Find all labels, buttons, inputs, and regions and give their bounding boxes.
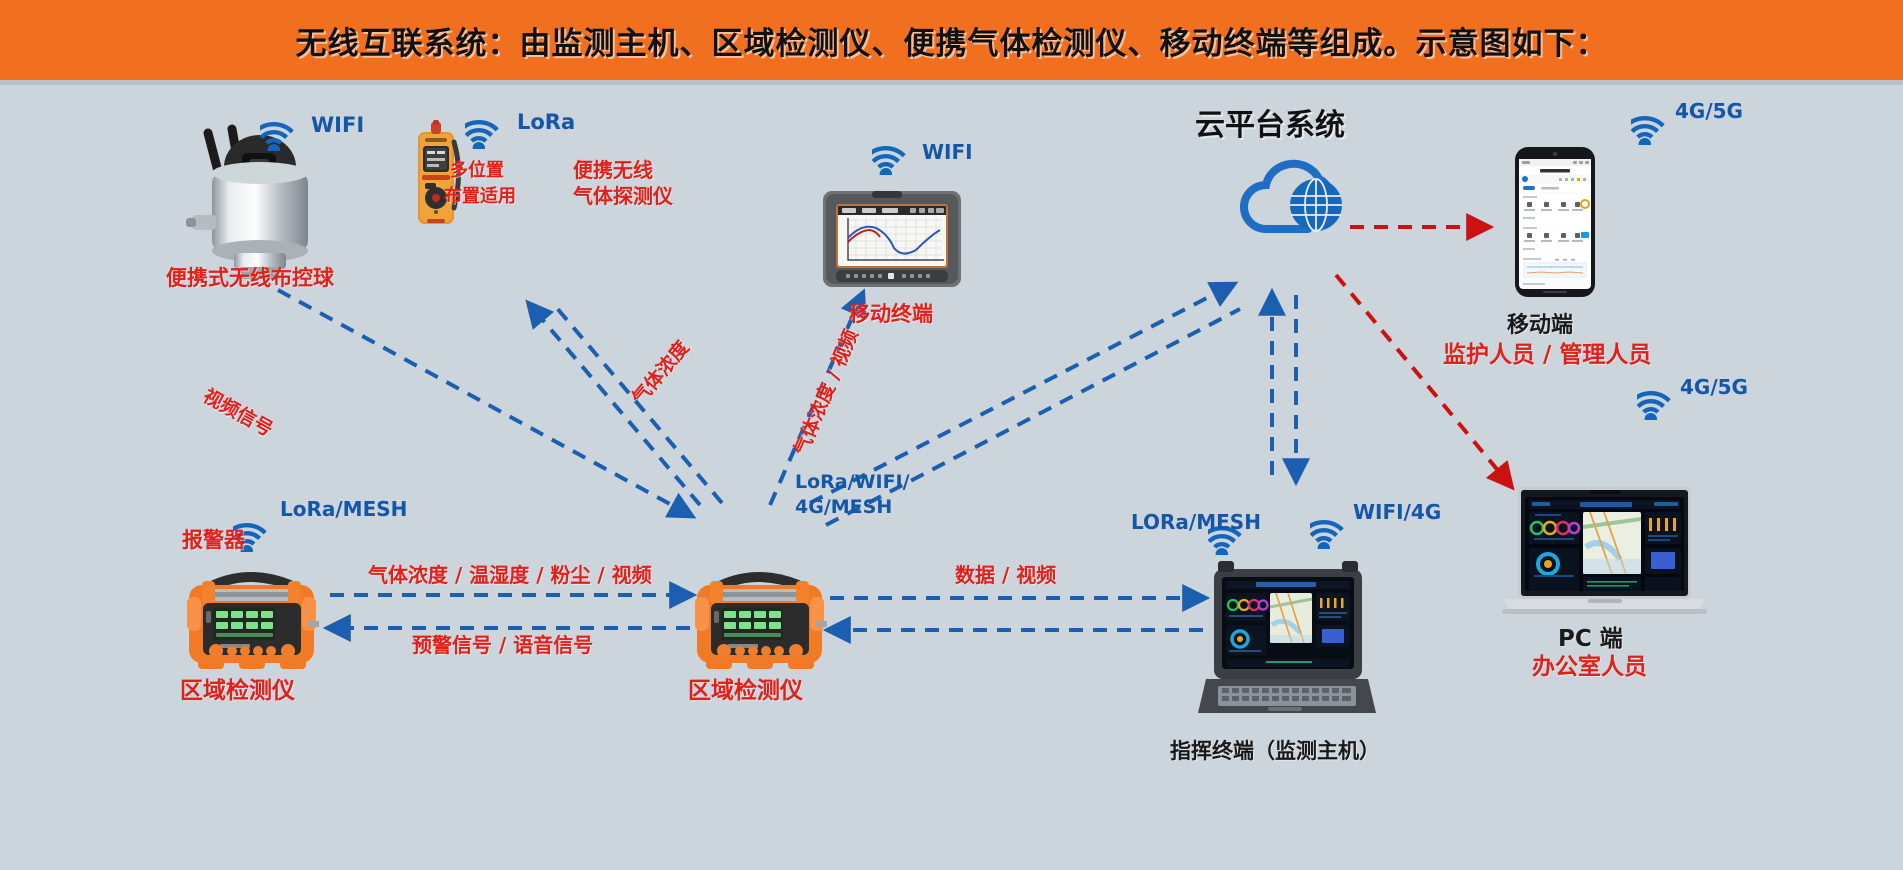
diagram-canvas: WIFI 便携式无线布控球	[0, 85, 1903, 870]
wifi-icon	[1310, 509, 1356, 549]
header-banner: 无线互联系统：由监测主机、区域检测仪、便携气体检测仪、移动终端等组成。示意图如下…	[0, 0, 1903, 80]
wifi-icon	[1631, 105, 1677, 145]
edge-label-gas-concentration: 气体浓度	[628, 337, 695, 410]
rugged-tablet-icon	[822, 190, 962, 288]
wifi-label-ballcam: WIFI	[311, 113, 364, 138]
area-gas-detector-icon	[692, 563, 827, 673]
diagram-root: 无线互联系统：由监测主机、区域检测仪、便携气体检测仪、移动终端等组成。示意图如下…	[0, 0, 1903, 870]
gas-detector-label-line2: 气体探测仪	[573, 184, 673, 209]
edge-label-gas-and-video: 气体浓度 / 视频	[790, 326, 864, 459]
lora-label-gasdet: LoRa	[517, 110, 575, 135]
gas-detector-note-line1: 多位置	[450, 160, 504, 183]
tablet-label: 移动终端	[849, 301, 933, 327]
alarm-detector-label: 区域检测仪	[180, 677, 295, 706]
page-title: 无线互联系统：由监测主机、区域检测仪、便携气体检测仪、移动终端等组成。示意图如下…	[296, 18, 1608, 63]
edge-label-lora-wifi-line2: 4G/MESH	[795, 496, 892, 519]
edge-label-data-video: 数据 / 视频	[955, 563, 1056, 588]
center-detector-label: 区域检测仪	[688, 677, 803, 706]
edge-detector-to-gasdet-a	[530, 305, 700, 505]
ball-camera-label: 便携式无线布控球	[166, 265, 334, 291]
cloud-platform-title: 云平台系统	[1195, 100, 1345, 144]
area-gas-detector-icon	[184, 563, 319, 673]
mobile-client-label: 移动端	[1507, 307, 1573, 339]
wifi-4g-label-terminal: WIFI/4G	[1353, 500, 1441, 524]
smartphone-icon	[1515, 147, 1595, 297]
wifi-label-tablet: WIFI	[922, 140, 973, 164]
alarm-note-label: 报警器	[182, 527, 245, 553]
wifi-icon	[465, 109, 511, 149]
gas-detector-note-line2: 布置适用	[444, 186, 516, 209]
mobile-client-role: 监护人员 / 管理人员	[1443, 341, 1651, 370]
pc-client-role: 办公室人员	[1532, 653, 1647, 682]
rugged-laptop-icon	[1196, 555, 1376, 720]
edge-label-lora-wifi-line1: LoRa/WIFI/	[795, 471, 910, 494]
laptop-icon	[1502, 485, 1707, 620]
edge-cloud-to-pc	[1336, 275, 1510, 485]
lora-mesh-label-terminal: LORa/MESH	[1131, 510, 1261, 534]
wifi-icon	[872, 135, 918, 175]
edge-label-uplink-metrics: 气体浓度 / 温湿度 / 粉尘 / 视频	[368, 563, 652, 588]
lora-mesh-label-alarm: LoRa/MESH	[280, 497, 407, 521]
wifi-icon	[260, 111, 306, 151]
edge-label-downlink-alerts: 预警信号 / 语音信号	[412, 633, 593, 658]
ptz-ball-camera-icon	[162, 115, 332, 290]
4g5g-label-mobile: 4G/5G	[1675, 99, 1743, 123]
gas-detector-label-line1: 便携无线	[573, 158, 653, 183]
wifi-icon	[1637, 380, 1683, 420]
pc-client-label: PC 端	[1558, 619, 1623, 653]
cloud-globe-icon	[1230, 145, 1370, 245]
4g5g-label-pc: 4G/5G	[1680, 375, 1748, 399]
edge-label-video-signal: 视频信号	[198, 385, 276, 443]
edge-ballcam-to-detector	[278, 290, 690, 515]
command-terminal-label: 指挥终端（监测主机）	[1170, 735, 1380, 765]
